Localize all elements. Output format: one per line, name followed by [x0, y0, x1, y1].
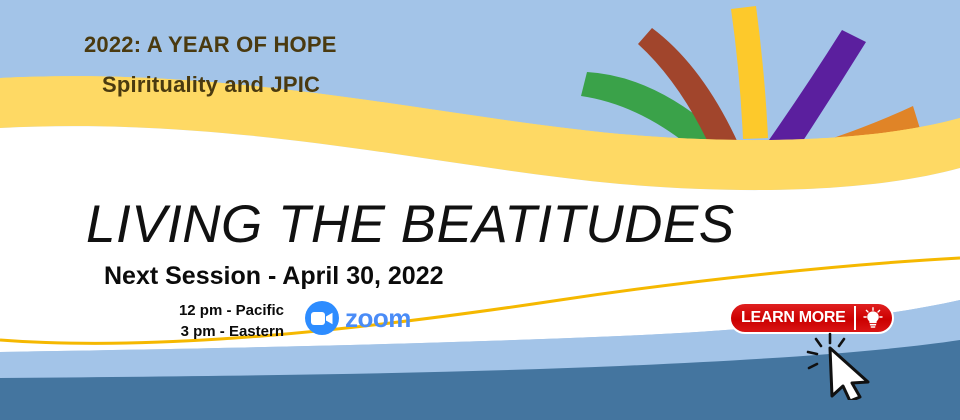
headline-year-of-hope: 2022: A YEAR OF HOPE: [84, 32, 337, 58]
header-text-block: 2022: A YEAR OF HOPE Spirituality and JP…: [84, 32, 337, 98]
time-eastern: 3 pm - Eastern: [160, 321, 284, 342]
session-times-block: 12 pm - Pacific 3 pm - Eastern: [160, 300, 284, 342]
learn-more-button[interactable]: LEARN MORE: [729, 302, 894, 334]
headline-spirituality-jpic: Spirituality and JPIC: [102, 72, 337, 98]
video-camera-glyph: [311, 312, 333, 325]
lightbulb-icon: [862, 306, 888, 330]
zoom-video-camera-icon: [305, 301, 339, 335]
button-divider: [854, 306, 856, 330]
promo-banner: 2022: A YEAR OF HOPE Spirituality and JP…: [0, 0, 960, 420]
lightbulb-glyph: [863, 307, 883, 329]
time-pacific: 12 pm - Pacific: [160, 300, 284, 321]
zoom-logo: zoom: [305, 301, 411, 335]
next-session-text: Next Session - April 30, 2022: [104, 262, 444, 291]
learn-more-label: LEARN MORE: [741, 309, 854, 327]
zoom-wordmark: zoom: [345, 305, 411, 331]
main-title: LIVING THE BEATITUDES: [86, 194, 735, 255]
